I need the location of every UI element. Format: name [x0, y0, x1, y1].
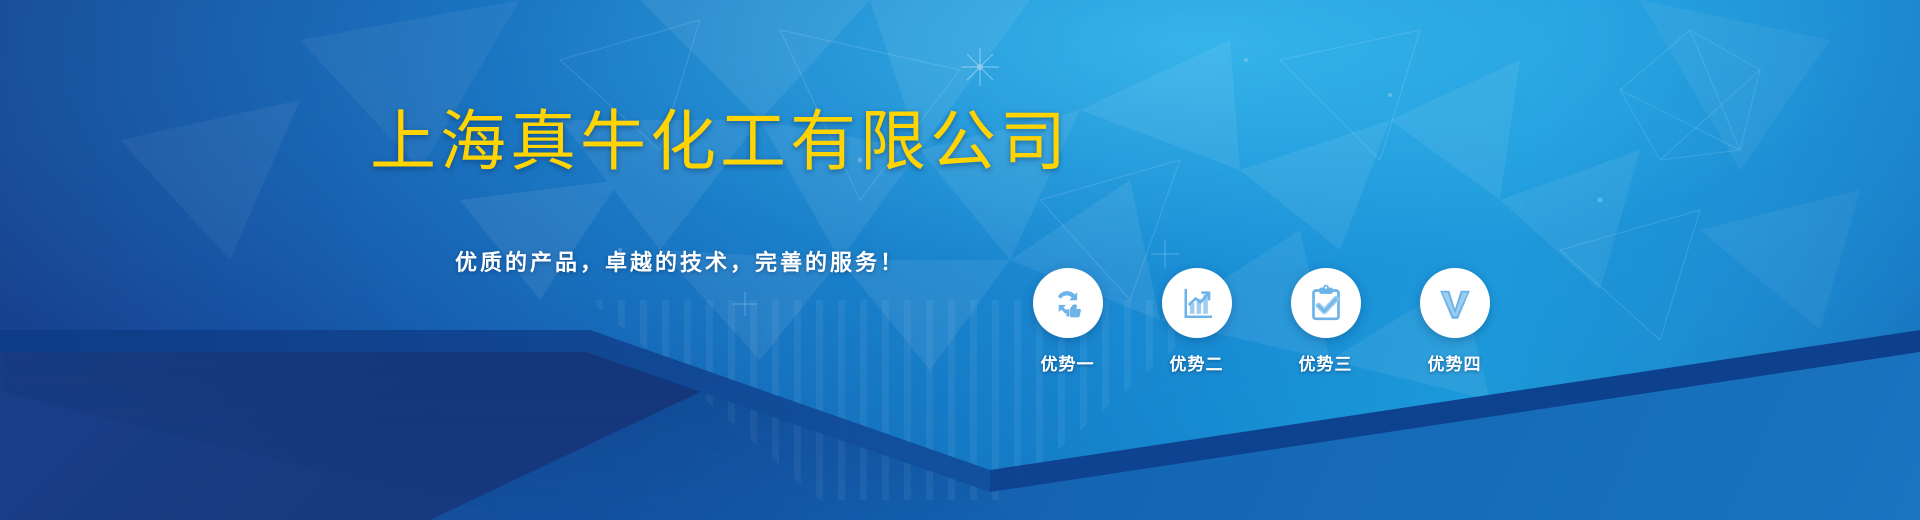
advantage-item-1[interactable]: 优势一 [1020, 268, 1115, 375]
company-title: 上海真牛化工有限公司 [370, 108, 1070, 174]
advantages-list: 优势一 优势二 [1020, 268, 1502, 375]
bar-chart-growth-icon [1177, 283, 1217, 323]
advantage-item-3[interactable]: 优势三 [1278, 268, 1373, 375]
advantage-icon-circle-1 [1033, 268, 1103, 338]
advantage-label-2: 优势二 [1170, 350, 1224, 375]
advantage-label-3: 优势三 [1299, 350, 1353, 375]
company-banner: 上海真牛化工有限公司 优质的产品，卓越的技术，完善的服务！ 优势一 [0, 0, 1920, 520]
advantage-label-1: 优势一 [1041, 350, 1095, 375]
advantage-item-2[interactable]: 优势二 [1149, 268, 1244, 375]
advantage-icon-circle-3 [1291, 268, 1361, 338]
company-slogan: 优质的产品，卓越的技术，完善的服务！ [455, 245, 905, 277]
advantage-item-4[interactable]: 优势四 [1407, 268, 1502, 375]
advantage-icon-circle-2 [1162, 268, 1232, 338]
advantage-icon-circle-4 [1420, 268, 1490, 338]
refresh-thumbsup-icon [1047, 282, 1089, 324]
letter-v-icon [1434, 282, 1476, 324]
clipboard-check-icon [1306, 283, 1346, 323]
advantage-label-4: 优势四 [1428, 350, 1482, 375]
